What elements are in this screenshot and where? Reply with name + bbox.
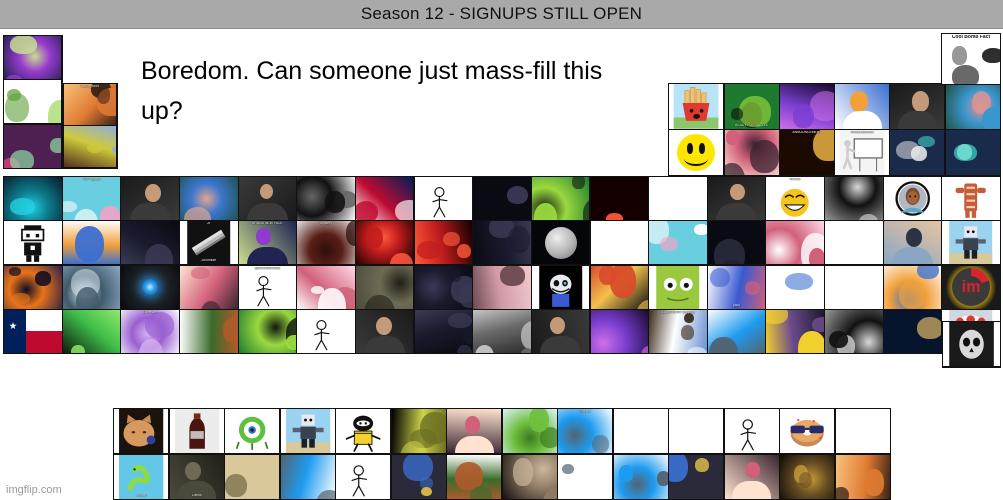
art-shape bbox=[75, 226, 105, 262]
mystery-bottle-art bbox=[297, 221, 354, 264]
anime-witch-girl[interactable] bbox=[4, 36, 61, 79]
dark-hallway[interactable] bbox=[415, 266, 472, 309]
sans-undertale[interactable] bbox=[532, 266, 589, 309]
smiley-face-icon bbox=[677, 134, 715, 172]
moon-photo[interactable] bbox=[532, 221, 589, 264]
fnaf-duo-art-art bbox=[890, 130, 944, 175]
potato-meme-dark[interactable] bbox=[780, 455, 834, 499]
art-shape bbox=[562, 464, 573, 474]
tile-caption-bottom: READY FOR BATTLE bbox=[725, 124, 779, 128]
lego-dark-scene-art bbox=[591, 266, 648, 309]
cartoon-girl-red-shirt-art bbox=[835, 84, 889, 129]
trollface-drawing[interactable] bbox=[415, 177, 472, 220]
potato-meme-dark-art bbox=[780, 455, 834, 499]
meme-canvas: Season 12 - SIGNUPS STILL OPEN Boredom. … bbox=[0, 0, 1003, 500]
gray-gradient[interactable] bbox=[825, 310, 882, 353]
pig-photo-art bbox=[473, 266, 530, 309]
laughing-emoji-mood[interactable]: MOOD bbox=[766, 177, 823, 220]
kid-photo-art bbox=[356, 310, 413, 353]
lavender-drawing[interactable]: Lavender bbox=[121, 310, 178, 353]
cell-green-dbz[interactable] bbox=[239, 310, 296, 353]
pokemon-card-art[interactable] bbox=[392, 455, 446, 499]
art-shape bbox=[10, 150, 34, 167]
purple-smoke-art bbox=[591, 310, 648, 353]
pug-photo-meme-art bbox=[64, 126, 117, 167]
art-shape bbox=[5, 93, 29, 123]
minecraft-scene[interactable] bbox=[946, 84, 1000, 129]
cat-lollipop[interactable] bbox=[114, 409, 168, 453]
green-eyeball-monster[interactable] bbox=[225, 409, 279, 453]
art-shape bbox=[723, 260, 740, 265]
portrait-head bbox=[550, 317, 565, 334]
green-slime-blob-art bbox=[503, 409, 557, 453]
art-shape bbox=[695, 458, 709, 472]
tree-sunset-photo-art bbox=[836, 455, 890, 499]
art-shape bbox=[35, 271, 51, 285]
man-suit-portrait[interactable] bbox=[884, 221, 941, 264]
dark-water-scene-2[interactable] bbox=[4, 177, 61, 220]
hands-photo-art bbox=[708, 177, 765, 220]
art-shape bbox=[798, 331, 823, 353]
cell-green-dbz-art bbox=[239, 310, 296, 353]
minecraft-skin-icon bbox=[4, 221, 61, 264]
dark-purple-art-art bbox=[473, 221, 530, 264]
black-white-screen[interactable] bbox=[825, 177, 882, 220]
left-avatar-column bbox=[3, 35, 63, 169]
fire-orange-art[interactable]: ANNOUNCEMENT bbox=[780, 130, 834, 175]
pokemon-cyndaquil[interactable] bbox=[669, 455, 723, 499]
dark-blue-tile-art bbox=[121, 221, 178, 264]
art-shape bbox=[112, 146, 116, 153]
cartoon-girl-red-shirt[interactable] bbox=[835, 84, 889, 129]
art-shape bbox=[457, 244, 471, 259]
night-city-scene[interactable] bbox=[884, 310, 941, 353]
tile-caption-top: Cool Bomb Fact bbox=[942, 35, 1000, 41]
desert-scene[interactable] bbox=[225, 455, 279, 499]
green-frog-face[interactable] bbox=[649, 266, 706, 309]
manga-page-art[interactable] bbox=[725, 409, 779, 453]
art-shape bbox=[448, 313, 472, 328]
manga-page-art-art bbox=[725, 409, 779, 453]
wrestling-photo[interactable] bbox=[890, 84, 944, 129]
blue-stick-drawing-art bbox=[297, 310, 354, 353]
gray-gradient-art bbox=[825, 310, 882, 353]
stick-figure-icon bbox=[297, 310, 354, 353]
art-shape bbox=[836, 487, 849, 499]
teen-selfie[interactable] bbox=[121, 177, 178, 220]
portrait-body bbox=[898, 111, 937, 129]
zirconium-element[interactable]: ZrZirconium bbox=[180, 221, 237, 264]
gojo-drawing[interactable]: @MOONSHADE bbox=[239, 266, 296, 309]
bacon-costume[interactable] bbox=[942, 177, 999, 220]
bfdi-fries[interactable] bbox=[669, 84, 723, 129]
red-figure-art[interactable] bbox=[356, 221, 413, 264]
bacon-costume-icon bbox=[942, 177, 999, 220]
ninja-cartoon[interactable] bbox=[336, 409, 390, 453]
tile-caption-top: Lavender bbox=[121, 311, 178, 315]
magic-hat-art-art bbox=[766, 310, 823, 353]
teen-selfie-art bbox=[121, 177, 178, 220]
minecraft-white-skin-art bbox=[4, 221, 61, 264]
art-shape bbox=[750, 140, 779, 173]
art-shape bbox=[799, 472, 812, 488]
stick-figure-icon bbox=[415, 177, 472, 220]
art-shape bbox=[443, 232, 459, 247]
main-avatar-grid: TCP XplosnMOODZrZirconiumBRAND NEW FACEM… bbox=[3, 176, 1001, 354]
art-shape bbox=[529, 409, 549, 432]
texas-flag-2-art: ★ bbox=[4, 310, 61, 353]
pug-photo-meme[interactable] bbox=[64, 126, 117, 167]
galaxy-swirl[interactable] bbox=[780, 84, 834, 129]
art-shape bbox=[660, 237, 678, 252]
blue-stick-drawing[interactable] bbox=[297, 310, 354, 353]
minecraft-white-skin[interactable] bbox=[4, 221, 61, 264]
art-shape bbox=[71, 345, 84, 353]
hentai-profile-card[interactable]: Special bbox=[558, 409, 612, 453]
pink-axolotl[interactable]: TCP Xplosn bbox=[63, 177, 120, 220]
art-shape bbox=[145, 312, 173, 338]
cool-fact-stick-figure-frame: Cool Bomb Fact bbox=[941, 33, 1001, 85]
empty-cell[interactable] bbox=[825, 266, 882, 309]
dark-silhouette-art bbox=[415, 310, 472, 353]
blonde-anime-girl-art bbox=[447, 409, 501, 453]
pokemon-card-art-art bbox=[392, 455, 446, 499]
green-snake-art-art bbox=[114, 455, 168, 499]
art-shape bbox=[606, 213, 623, 220]
art-shape bbox=[954, 144, 977, 161]
donut-sunglasses-art bbox=[780, 409, 834, 453]
black-white-screen-art bbox=[825, 177, 882, 220]
yellow-smiley[interactable] bbox=[669, 130, 723, 175]
profile-info-card[interactable] bbox=[614, 455, 668, 499]
arabic-text-dark[interactable] bbox=[708, 221, 765, 264]
mountain-game-screen[interactable] bbox=[63, 266, 120, 309]
trollface-drawing-art bbox=[415, 177, 472, 220]
tile-caption-bottom: paco bbox=[708, 304, 765, 308]
stick-figure-icon bbox=[725, 409, 779, 453]
empty-cell[interactable] bbox=[614, 409, 668, 453]
bottom-avatar-cluster: SpecialimgflipCarlos bbox=[113, 408, 891, 500]
night-city-scene-art bbox=[884, 310, 941, 353]
red-black-abstract-art bbox=[591, 177, 648, 220]
green-slime-blob[interactable] bbox=[503, 409, 557, 453]
art-shape bbox=[420, 412, 445, 444]
art-shape bbox=[463, 328, 472, 345]
purple-pixel-art-art bbox=[180, 177, 237, 220]
glowing-red-eye[interactable] bbox=[415, 221, 472, 264]
pink-anime-couple-art bbox=[180, 266, 237, 309]
art-shape bbox=[225, 474, 246, 497]
person-photo-dark-art bbox=[532, 310, 589, 353]
gray-soldier[interactable] bbox=[356, 266, 413, 309]
portrait-head bbox=[256, 228, 270, 245]
green-bunny-plush[interactable] bbox=[4, 80, 61, 123]
skull-face-dark-art bbox=[943, 322, 1000, 367]
paco-text-art-art bbox=[708, 266, 765, 309]
bw-horse-art[interactable] bbox=[297, 177, 354, 220]
portrait-head bbox=[906, 228, 922, 247]
twitter-profile-art bbox=[708, 310, 765, 353]
gun-photo-art bbox=[473, 310, 530, 353]
pixel-backpack-art-art bbox=[447, 455, 501, 499]
green-bunny-plush-art bbox=[4, 80, 61, 123]
art-shape bbox=[864, 469, 884, 496]
twitter-profile[interactable] bbox=[708, 310, 765, 353]
empty-cell[interactable] bbox=[669, 409, 723, 453]
green-robot-figure[interactable] bbox=[281, 409, 335, 453]
dark-water-scene-2-art bbox=[4, 177, 61, 220]
art-shape bbox=[9, 267, 21, 276]
art-shape bbox=[223, 317, 237, 343]
soda-bottle[interactable] bbox=[170, 409, 224, 453]
portal-blue-eye[interactable] bbox=[121, 266, 178, 309]
art-shape bbox=[12, 293, 30, 304]
tile-caption-top: @MOONSHADE bbox=[239, 267, 296, 271]
art-shape bbox=[739, 96, 770, 126]
dark-purple-art[interactable] bbox=[473, 221, 530, 264]
pokemon-twitter-banner-art bbox=[281, 455, 335, 499]
pixel-backpack-art[interactable] bbox=[447, 455, 501, 499]
blue-axolotl-art-art bbox=[649, 221, 706, 264]
art-shape bbox=[592, 435, 608, 453]
pig-photo[interactable] bbox=[473, 266, 530, 309]
purple-pixel-art[interactable] bbox=[180, 177, 237, 220]
gun-photo[interactable] bbox=[473, 310, 530, 353]
robot-figure-art bbox=[942, 221, 999, 264]
green-frog-face-icon bbox=[649, 266, 706, 309]
cat-lollipop-art bbox=[114, 409, 168, 453]
paco-text-art[interactable]: paco bbox=[708, 266, 765, 309]
portrait-head bbox=[912, 91, 930, 111]
walrus-meme-art bbox=[503, 455, 557, 499]
blue-white-banner[interactable] bbox=[558, 455, 612, 499]
cartoon-cat-blue[interactable] bbox=[884, 266, 941, 309]
empty-cell[interactable] bbox=[825, 221, 882, 264]
art-shape bbox=[859, 214, 878, 220]
art-shape bbox=[325, 191, 345, 213]
lego-dark-scene[interactable] bbox=[591, 266, 648, 309]
anime-friends-art[interactable] bbox=[766, 266, 823, 309]
green-game-screen[interactable] bbox=[63, 310, 120, 353]
art-shape bbox=[403, 455, 433, 481]
man-suit-portrait-art bbox=[884, 221, 941, 264]
blue-dress-figure[interactable] bbox=[766, 221, 823, 264]
usa-flag-art[interactable] bbox=[356, 177, 413, 220]
pokemon-cyndaquil-art bbox=[669, 455, 723, 499]
tile-caption-top: BRAND NEW FACE bbox=[239, 222, 296, 226]
tile-caption-top: Announcement bbox=[835, 131, 889, 135]
gojo-drawing-art bbox=[239, 266, 296, 309]
cartoon-bear-meal[interactable] bbox=[63, 221, 120, 264]
green-snake-art[interactable]: imgflip bbox=[114, 455, 168, 499]
anime-girl-phone[interactable] bbox=[725, 130, 779, 175]
robot-figure[interactable] bbox=[942, 221, 999, 264]
art-shape bbox=[63, 201, 77, 212]
halloween-pumpkin-scene[interactable] bbox=[4, 266, 61, 309]
dark-silhouette[interactable] bbox=[415, 310, 472, 353]
green-robot-figure-art bbox=[281, 409, 335, 453]
tree-sunset-photo[interactable] bbox=[836, 455, 890, 499]
ninja-cartoon-icon bbox=[336, 409, 390, 453]
main-grid-row5-tail bbox=[942, 321, 1002, 368]
art-shape bbox=[809, 248, 824, 265]
tile-caption-bottom: imgflip bbox=[114, 494, 168, 498]
green-game-screen-art bbox=[63, 310, 120, 353]
anime-girl-orange[interactable] bbox=[725, 455, 779, 499]
empty-cell[interactable] bbox=[591, 221, 648, 264]
art-shape bbox=[726, 130, 738, 144]
blue-dress-figure-art bbox=[766, 221, 823, 264]
art-shape bbox=[952, 65, 979, 84]
skull-face-dark[interactable] bbox=[943, 322, 1000, 367]
pink-dress-kid-art bbox=[297, 266, 354, 309]
skull-face-icon bbox=[943, 322, 1000, 367]
art-shape bbox=[421, 487, 432, 496]
art-shape bbox=[10, 198, 35, 215]
tile-caption-top: Zr bbox=[180, 222, 237, 226]
cartoon-cat-blue-art bbox=[884, 266, 941, 309]
art-shape bbox=[457, 345, 471, 353]
empty-cell[interactable] bbox=[649, 177, 706, 220]
wrestling-photo-art bbox=[890, 84, 944, 129]
knight-horse-art-art bbox=[532, 177, 589, 220]
pink-anime-couple[interactable] bbox=[180, 266, 237, 309]
art-shape bbox=[793, 104, 814, 128]
art-shape bbox=[500, 266, 525, 286]
halloween-pumpkin-scene-art bbox=[4, 266, 61, 309]
art-shape bbox=[508, 226, 530, 253]
donut-sunglasses-icon bbox=[780, 409, 834, 453]
red-black-abstract[interactable] bbox=[591, 177, 648, 220]
dbz-cell-art bbox=[725, 84, 779, 129]
art-shape bbox=[10, 36, 38, 54]
bfdi-fries-icon bbox=[669, 84, 723, 129]
announcement-whiteboard-icon bbox=[835, 130, 889, 175]
stick-figure-cool-fact[interactable]: Cool Bomb Fact bbox=[942, 34, 1000, 84]
portrait-head bbox=[376, 317, 392, 336]
imgflip-watermark: imgflip.com bbox=[6, 484, 62, 496]
person-photo-dark[interactable] bbox=[532, 310, 589, 353]
minecraft-scene-art bbox=[946, 84, 1000, 129]
arabic-text-dark-art bbox=[708, 221, 765, 264]
bacon-costume-art bbox=[942, 177, 999, 220]
art-shape bbox=[459, 283, 472, 308]
pink-axolotl-art bbox=[63, 177, 120, 220]
top-right-avatar-cluster: READY FOR BATTLEANNOUNCEMENTAnnouncement bbox=[668, 83, 1001, 176]
sunset-banner-art[interactable]: Dawn_5459 bbox=[64, 84, 117, 125]
art-shape bbox=[982, 48, 1000, 64]
map-scribble-art bbox=[336, 455, 390, 499]
portrait-head bbox=[260, 184, 273, 199]
magic-hat-art[interactable] bbox=[766, 310, 823, 353]
bitmoji-portrait-icon bbox=[884, 177, 941, 220]
moon-photo-art bbox=[532, 221, 589, 264]
donut-sunglasses[interactable] bbox=[780, 409, 834, 453]
cartoon-bear-meal-art bbox=[63, 221, 120, 264]
announcement-whiteboard[interactable]: Announcement bbox=[835, 130, 889, 175]
bitmoji-portrait[interactable] bbox=[884, 177, 941, 220]
art-shape bbox=[681, 325, 694, 340]
minecraft-villager-art[interactable] bbox=[180, 310, 237, 353]
bw-horse-art-art bbox=[297, 177, 354, 220]
art-shape bbox=[367, 227, 383, 249]
fire-orange-art-art bbox=[780, 130, 834, 175]
blonde-anime-girl[interactable] bbox=[447, 409, 501, 453]
dark-blue-tile[interactable] bbox=[121, 221, 178, 264]
green-eyeball-monster-icon bbox=[225, 409, 279, 453]
art-shape bbox=[395, 200, 413, 220]
soda-bottle-art bbox=[170, 409, 224, 453]
art-shape bbox=[450, 270, 461, 282]
kid-photo[interactable] bbox=[356, 310, 413, 353]
texas-flag-2[interactable]: ★ bbox=[4, 310, 61, 353]
anime-friends-art-art bbox=[766, 266, 823, 309]
roblox-avatar-icon bbox=[281, 409, 335, 453]
art-shape bbox=[745, 281, 760, 294]
laughing-emoji-icon bbox=[766, 177, 823, 220]
bandana-dee-art[interactable] bbox=[946, 130, 1000, 175]
galaxy-swirl-art bbox=[780, 84, 834, 129]
bfdi-fries-art bbox=[669, 84, 723, 129]
blue-white-banner-art bbox=[558, 455, 612, 499]
brand-new-face[interactable]: BRAND NEW FACE bbox=[239, 221, 296, 264]
meme-header-bar: Season 12 - SIGNUPS STILL OPEN bbox=[0, 0, 1003, 29]
brand-new-face-art bbox=[239, 221, 296, 264]
blue-axolotl-art[interactable] bbox=[649, 221, 706, 264]
art-shape bbox=[952, 46, 967, 65]
announcement-whiteboard-art bbox=[835, 130, 889, 175]
dark-moth-art[interactable] bbox=[392, 409, 446, 453]
yapping-meme[interactable]: ILLBEFUNNY yapping bbox=[649, 310, 706, 353]
anime-girl-orange-art bbox=[725, 455, 779, 499]
art-shape bbox=[534, 203, 557, 220]
dark-blue-figure[interactable] bbox=[473, 177, 530, 220]
carlos-soldier[interactable]: Carlos bbox=[170, 455, 224, 499]
rapper-photo[interactable] bbox=[239, 177, 296, 220]
yellow-smiley-art bbox=[669, 130, 723, 175]
dbz-cell[interactable]: READY FOR BATTLE bbox=[725, 84, 779, 129]
walrus-meme[interactable] bbox=[503, 455, 557, 499]
imgflip-logo-art: im bbox=[942, 266, 999, 309]
imgflip-logo[interactable]: im bbox=[942, 266, 999, 309]
art-shape bbox=[470, 486, 493, 498]
roblox-avatar-icon bbox=[942, 221, 999, 264]
pokemon-twitter-banner[interactable] bbox=[281, 455, 335, 499]
art-shape bbox=[572, 177, 584, 189]
purple-smoke[interactable] bbox=[591, 310, 648, 353]
empty-cell[interactable] bbox=[836, 409, 890, 453]
hentai-profile-card-art bbox=[558, 409, 612, 453]
portrait-head bbox=[850, 91, 868, 111]
art-shape bbox=[513, 458, 533, 485]
tile-caption-top: MOOD bbox=[766, 178, 823, 182]
hands-photo[interactable] bbox=[708, 177, 765, 220]
sans-undertale-art bbox=[532, 266, 589, 309]
red-figure-art-art bbox=[356, 221, 413, 264]
green-frog-face-art bbox=[649, 266, 706, 309]
blue-hair-vtuber[interactable] bbox=[4, 125, 61, 168]
portal-blue-eye-art bbox=[121, 266, 178, 309]
cat-lollipop-icon bbox=[114, 409, 168, 453]
fnaf-duo-art[interactable] bbox=[890, 130, 944, 175]
pink-dress-kid[interactable] bbox=[297, 266, 354, 309]
knight-horse-art[interactable] bbox=[532, 177, 589, 220]
bitmoji-portrait-art bbox=[884, 177, 941, 220]
mystery-bottle[interactable]: Mystery bbox=[297, 221, 354, 264]
map-scribble[interactable] bbox=[336, 455, 390, 499]
dark-hallway-art bbox=[415, 266, 472, 309]
art-shape bbox=[100, 206, 119, 220]
